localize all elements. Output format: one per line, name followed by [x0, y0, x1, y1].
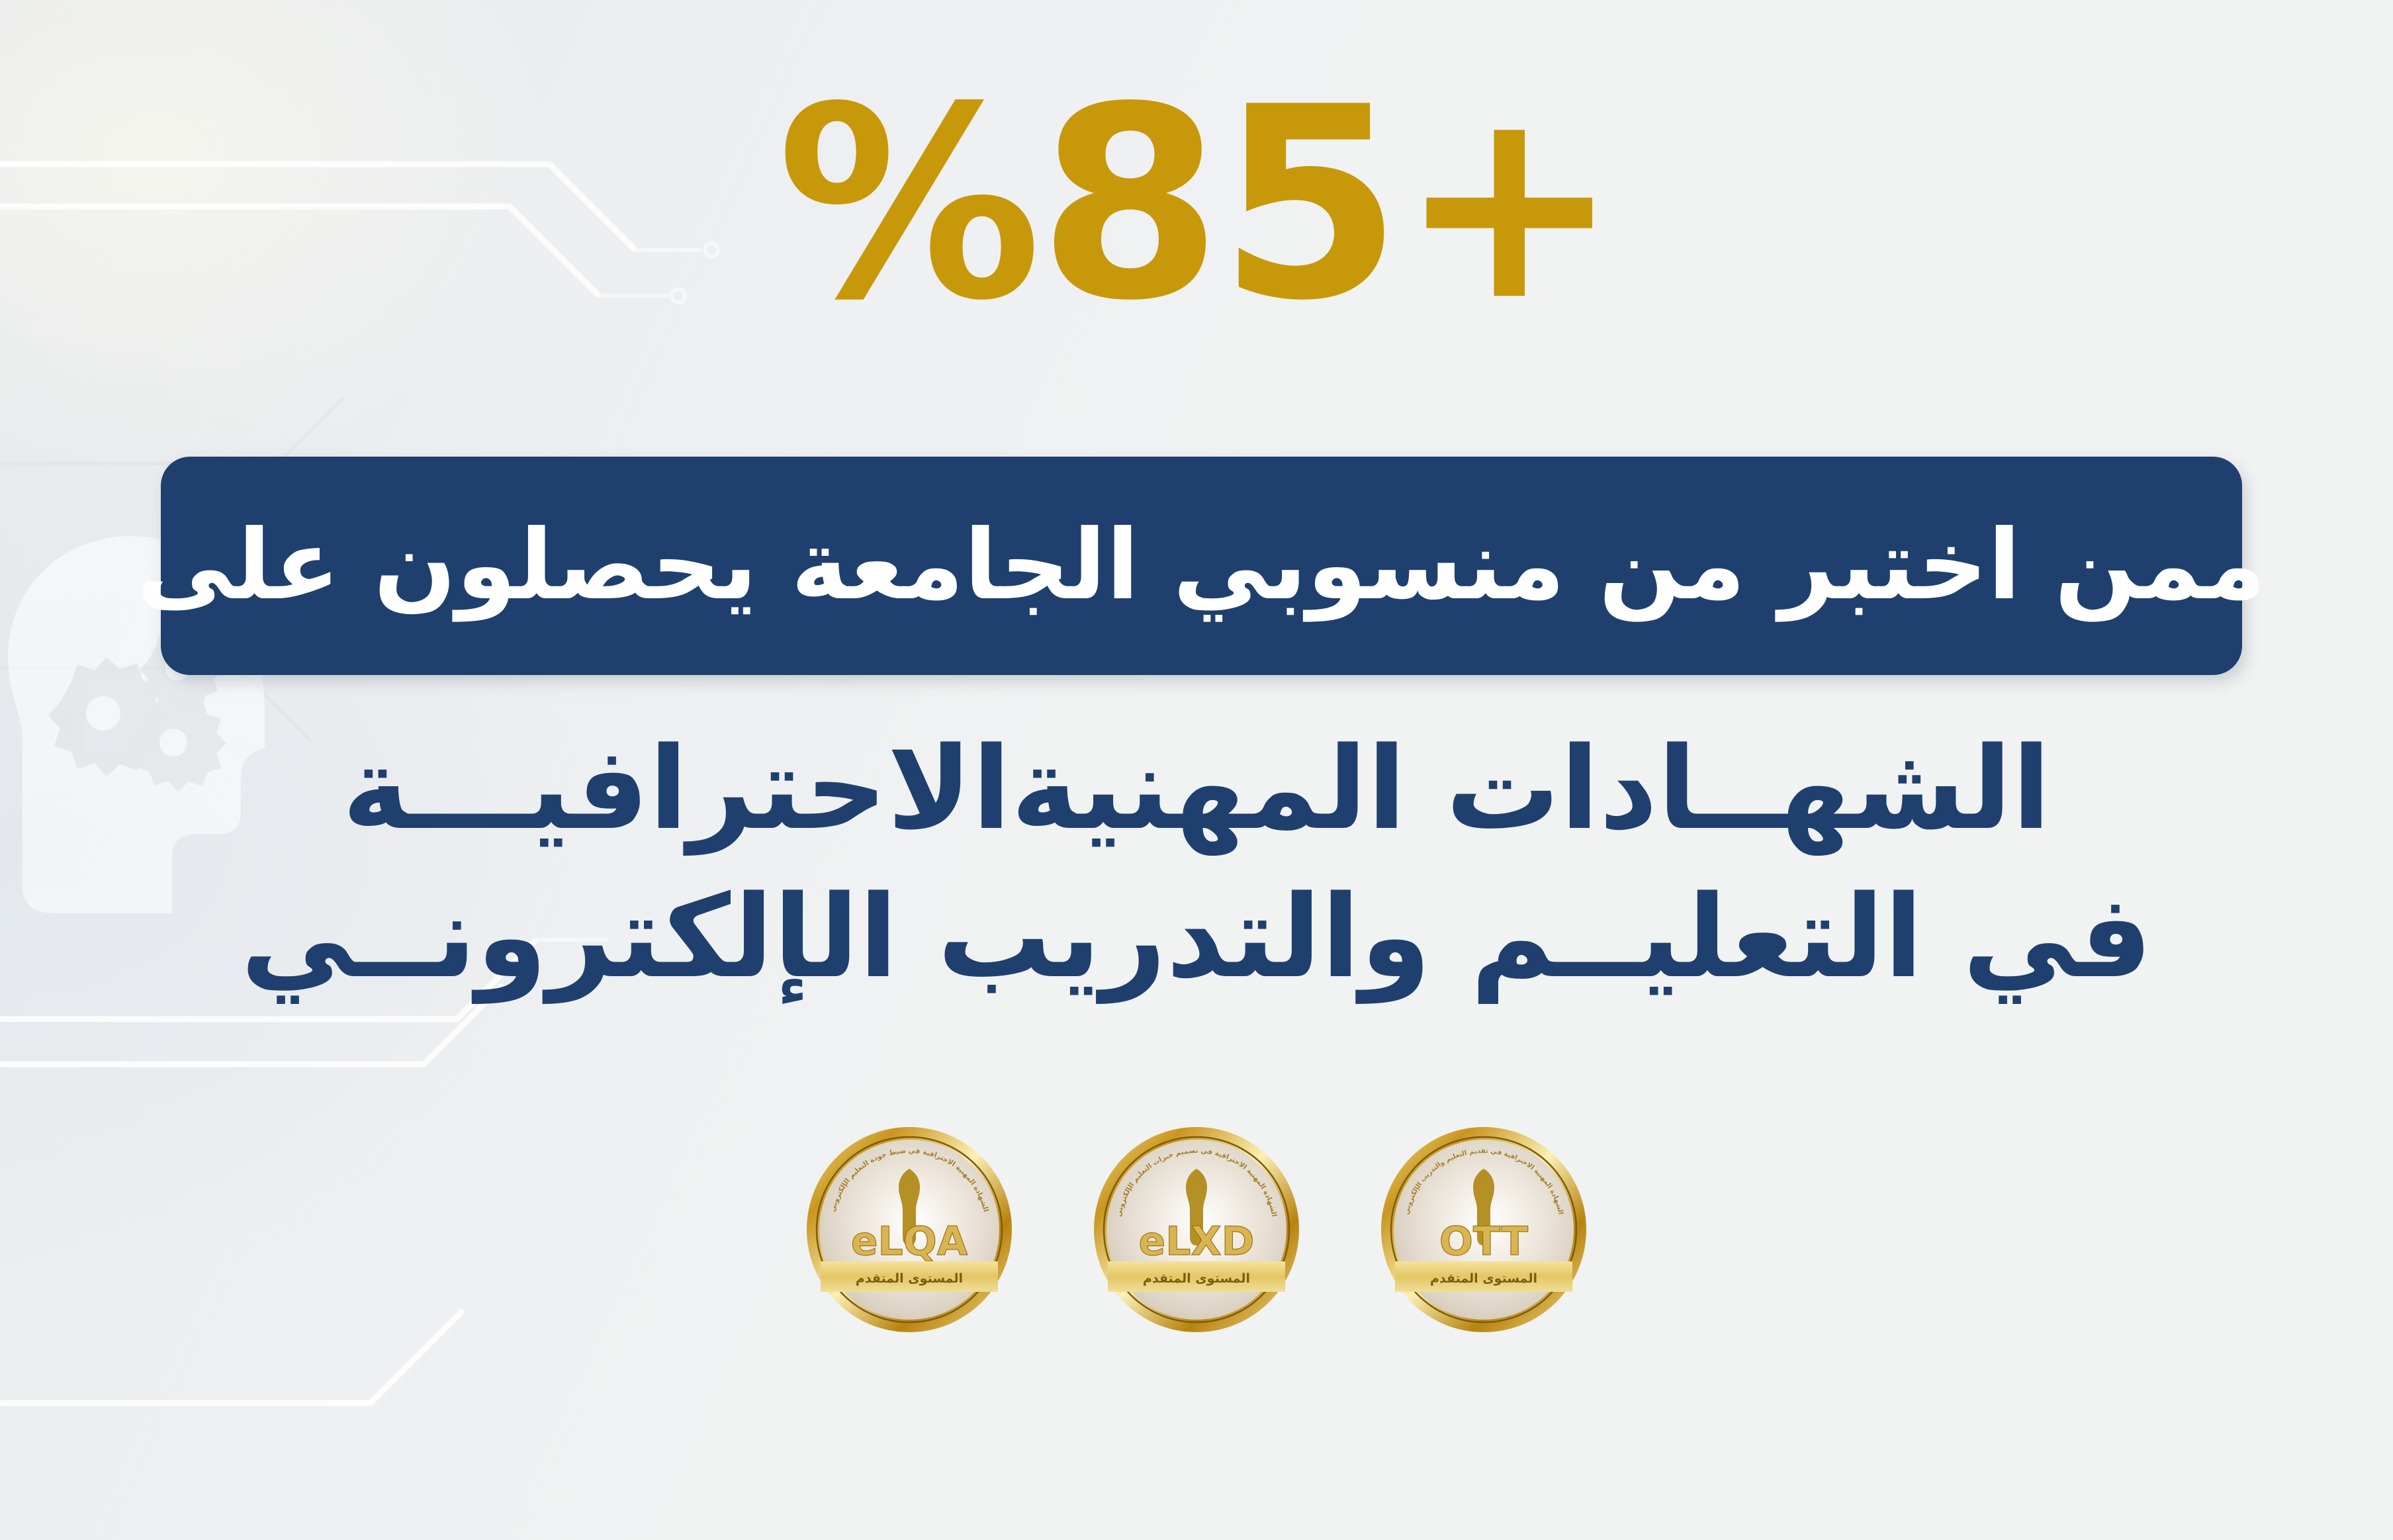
headline-line-2: في التعليــم والتدريب الإلكترونــي — [40, 863, 2353, 1011]
headline: الشهــادات المهنيةالاحترافيـــة في التعل… — [40, 715, 2353, 1011]
stat-value: %85+ — [0, 73, 2393, 338]
medal-code: OTT — [1439, 1218, 1528, 1265]
medal-row: الشهادة المهنية الاحترافية في ضبط جودة ا… — [0, 1125, 2393, 1334]
medal-level: المستوى المتقدم — [1143, 1271, 1250, 1286]
banner-text: ممن اختبر من منسوبي الجامعة يحصلون على — [137, 515, 2266, 616]
medal-elxd-graphic: الشهادة المهنية الاحترافية في تصميم خبرا… — [1092, 1125, 1301, 1334]
medal-level: المستوى المتقدم — [1430, 1271, 1537, 1286]
medal-code: eLXD — [1139, 1218, 1255, 1265]
medal-ott: الشهادة المهنية الاحترافية في تقديم التع… — [1379, 1125, 1588, 1334]
medal-code: eLQA — [851, 1218, 968, 1265]
poster-canvas: %85+ ممن اختبر من منسوبي الجامعة يحصلون … — [0, 0, 2393, 1540]
medal-level: المستوى المتقدم — [856, 1271, 963, 1286]
medal-elxd: الشهادة المهنية الاحترافية في تصميم خبرا… — [1092, 1125, 1301, 1334]
medal-ott-graphic: الشهادة المهنية الاحترافية في تقديم التع… — [1379, 1125, 1588, 1334]
banner: ممن اختبر من منسوبي الجامعة يحصلون على — [161, 457, 2242, 675]
headline-line-1: الشهــادات المهنيةالاحترافيـــة — [40, 715, 2353, 863]
medal-elqa-graphic: الشهادة المهنية الاحترافية في ضبط جودة ا… — [805, 1125, 1014, 1334]
medal-elqa: الشهادة المهنية الاحترافية في ضبط جودة ا… — [805, 1125, 1014, 1334]
